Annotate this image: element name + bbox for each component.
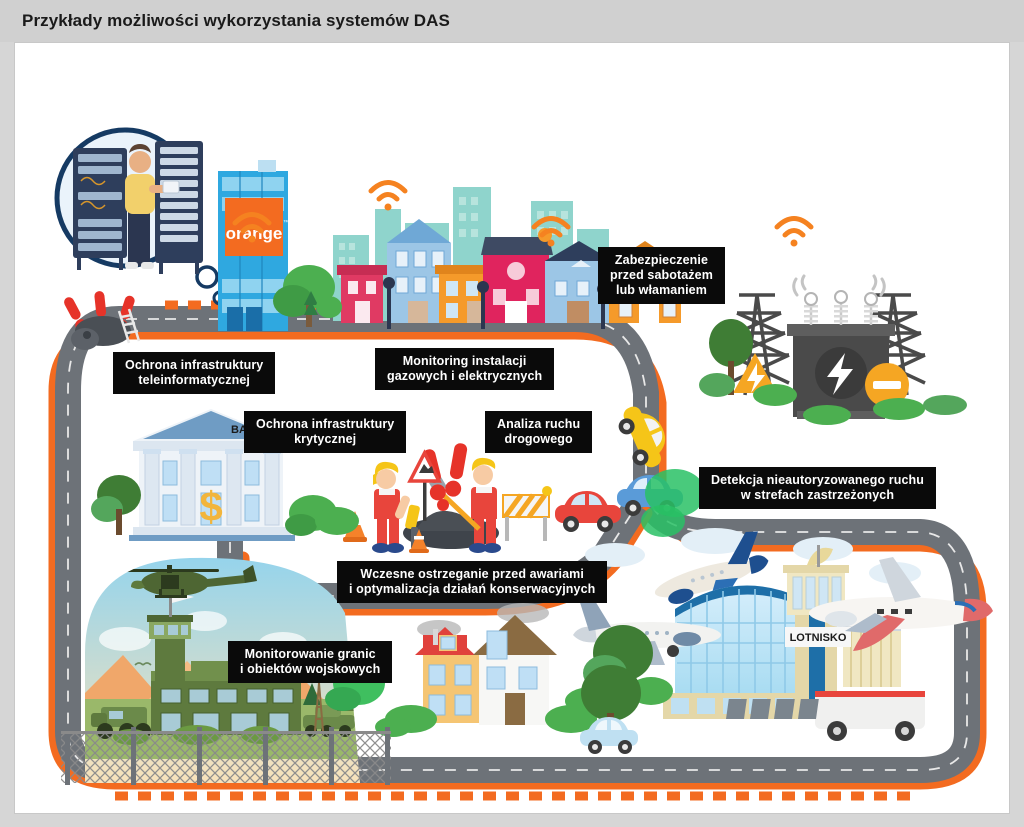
infographic-canvas: orange ™ <box>14 42 1010 814</box>
label-detekcja-nieautoryzowanego-ruchu[interactable]: Detekcja nieautoryzowanego ruchu w stref… <box>699 467 936 509</box>
svg-text:$: $ <box>199 483 222 530</box>
scene-data-center <box>57 130 226 304</box>
infographic-page: Przykłady możliwości wykorzystania syste… <box>0 0 1024 827</box>
scene-power-substation <box>699 276 967 425</box>
security-fence <box>61 727 391 785</box>
label-monitorowanie-granic-i-obiektow-wojskowych[interactable]: Monitorowanie granic i obiektów wojskowy… <box>228 641 392 683</box>
server-rack-right <box>155 141 203 274</box>
label-ochrona-infrastruktury-teleinformatycznej[interactable]: Ochrona infrastruktury teleinformatyczne… <box>113 352 275 394</box>
label-wczesne-ostrzeganie-przed-awariami[interactable]: Wczesne ostrzeganie przed awariami i opt… <box>337 561 607 603</box>
road-barrier <box>503 486 552 541</box>
wifi-icons <box>235 183 811 247</box>
server-rack-left <box>73 148 127 270</box>
svg-text:™: ™ <box>283 219 289 226</box>
label-analiza-ruchu-drogowego[interactable]: Analiza ruchu drogowego <box>485 411 592 453</box>
airport-sign-text: LOTNISKO <box>790 632 847 644</box>
label-ochrona-infrastruktury-krytycznej[interactable]: Ochrona infrastruktury krytycznej <box>244 411 406 453</box>
title-bar: Przykłady możliwości wykorzystania syste… <box>0 0 1024 42</box>
label-monitoring-instalacji-gazowych-i-elektrycznych[interactable]: Monitoring instalacji gazowych i elektry… <box>375 348 554 390</box>
scene-road-works <box>315 442 552 553</box>
page-title: Przykłady możliwości wykorzystania syste… <box>22 11 450 31</box>
dollar-sign-icon: $ <box>199 483 222 530</box>
car-red <box>555 491 621 532</box>
label-zabezpieczenie-przed-sabotazem[interactable]: Zabezpieczenie przed sabotażem lub włama… <box>598 247 725 304</box>
